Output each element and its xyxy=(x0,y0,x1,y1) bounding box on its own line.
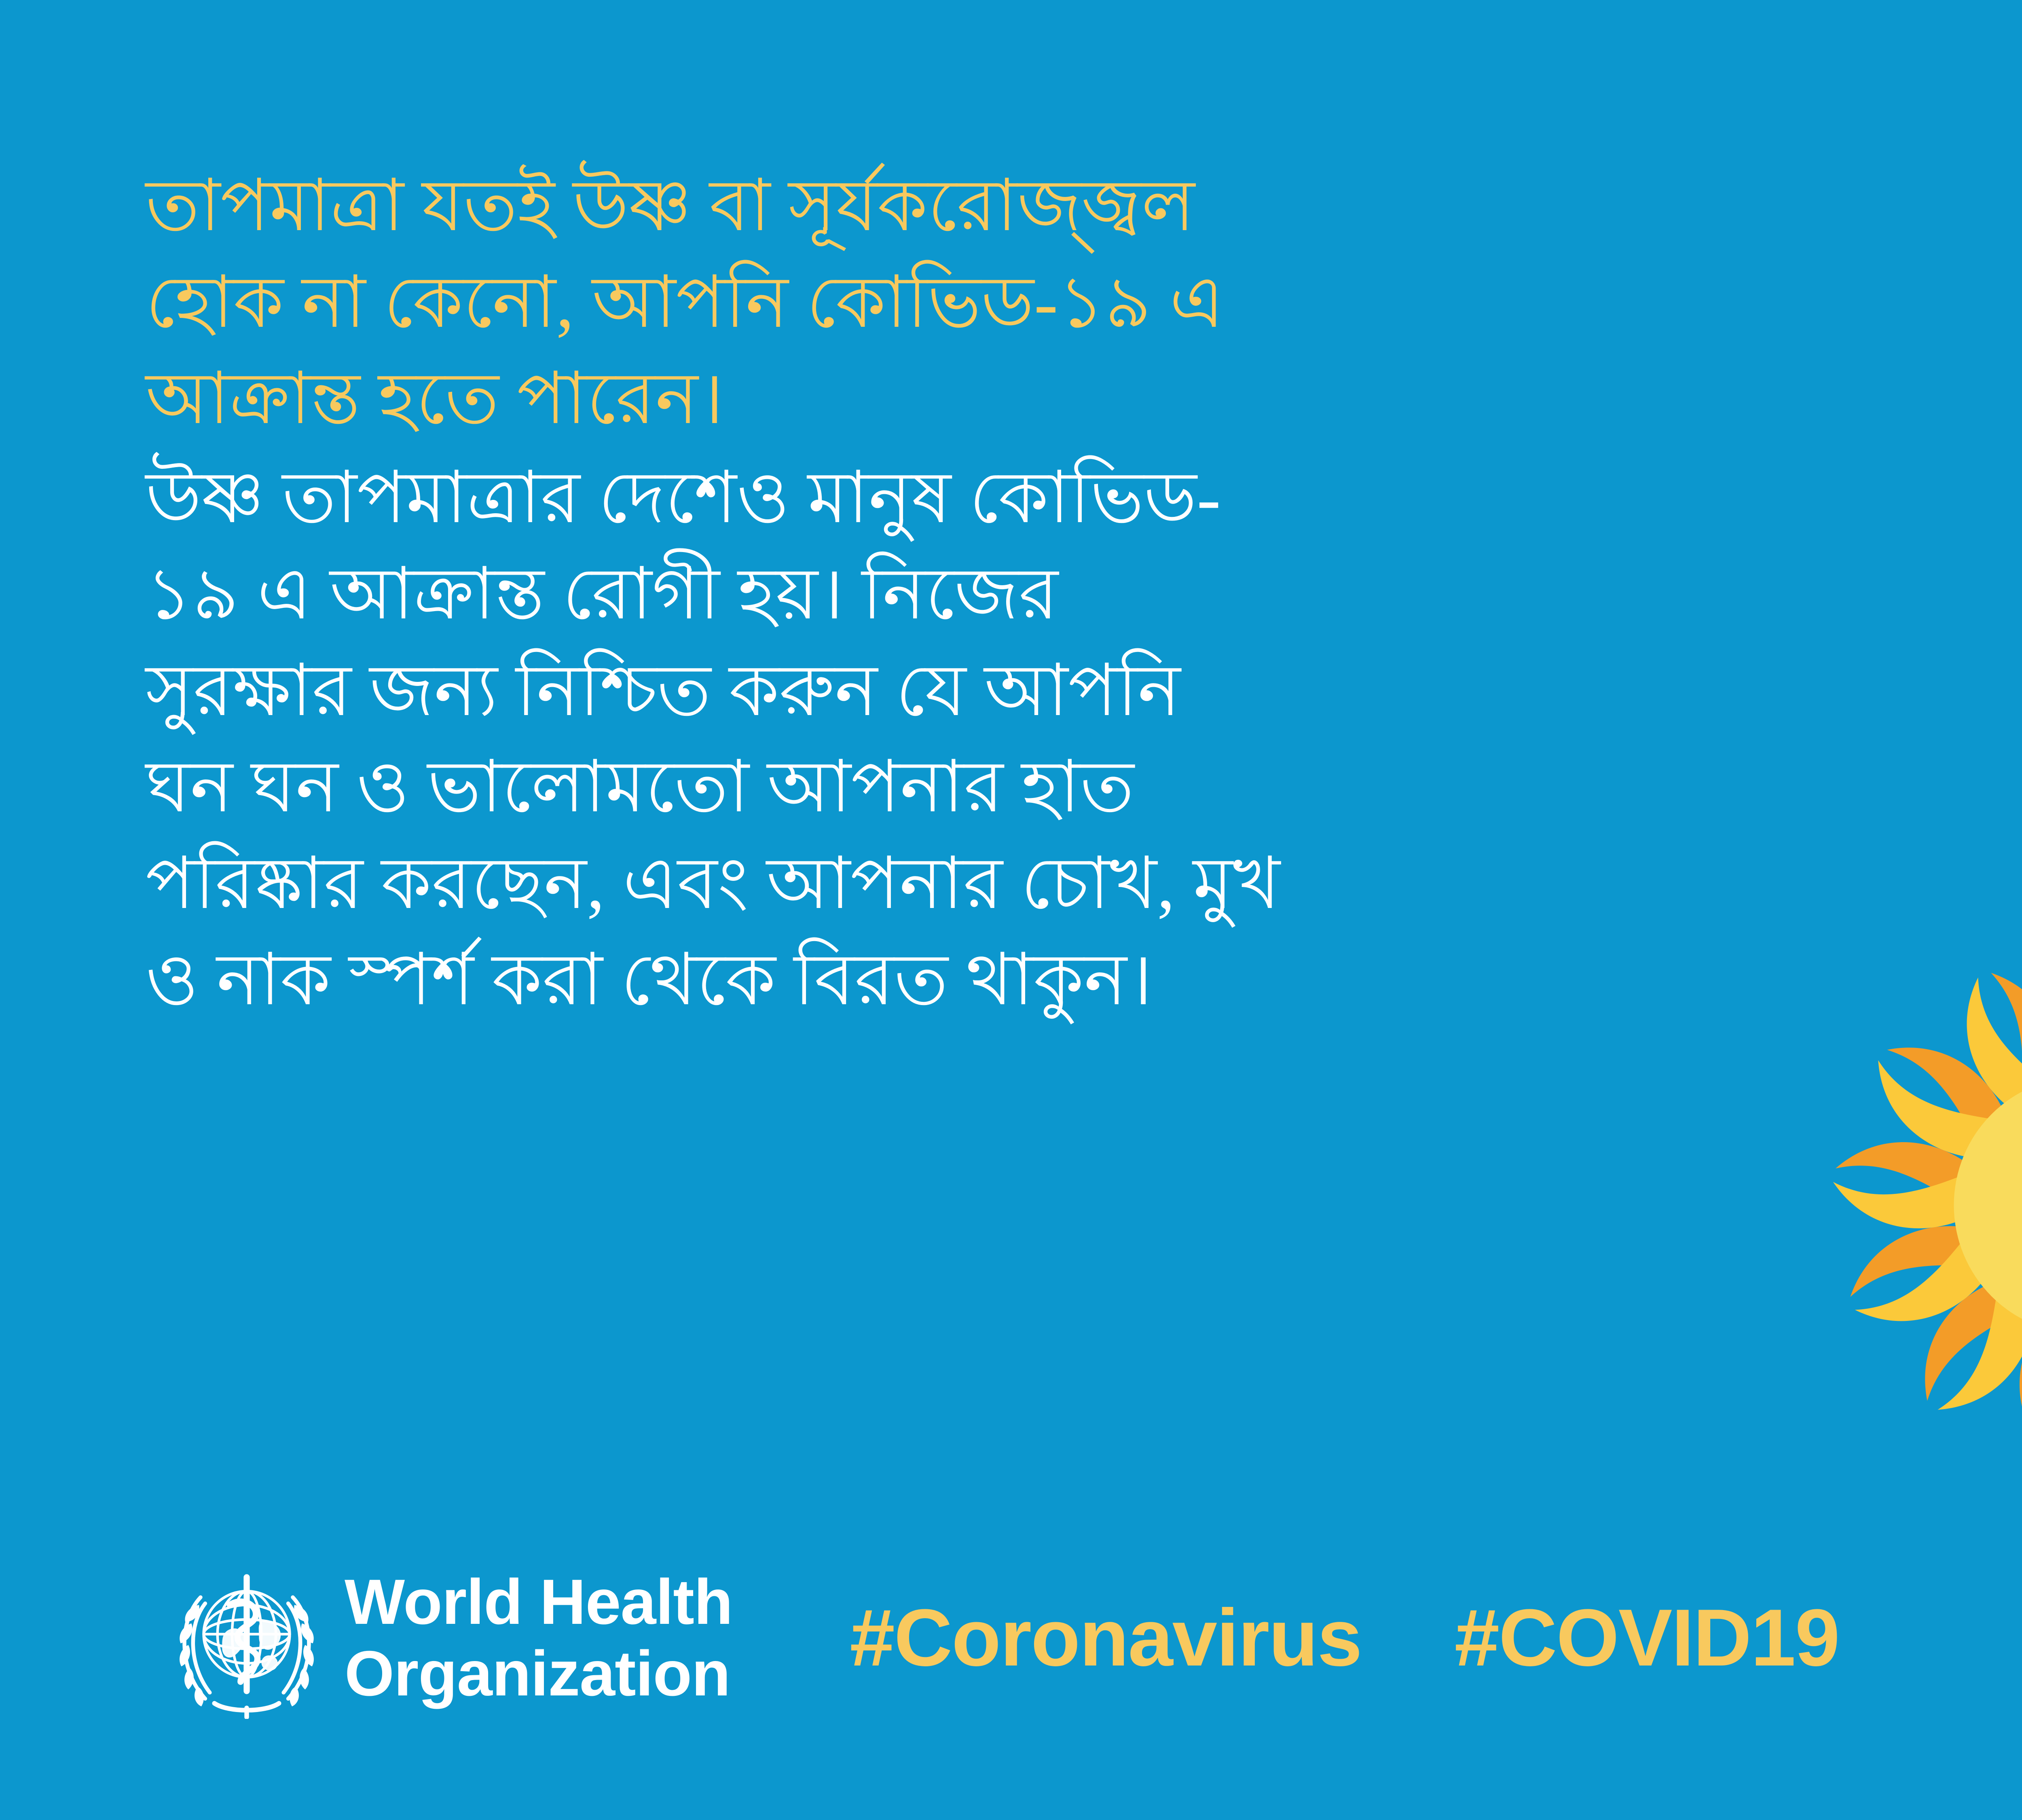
fact-body-line: তাপমাত্রার উপরে রাখলে xyxy=(1743,473,2022,569)
advice-line: ১৯ এ আক্রান্ত রোগী হয়। নিজের xyxy=(146,546,1674,643)
fact-body-block: নিজেকে রোদের তাপে বা ২৫C ডিগ্রীর তাপমাত্… xyxy=(1743,376,2022,763)
fact-body-line: করা যাবে না। xyxy=(1743,666,2022,763)
poster-canvas: তাপমাত্রা যতই উষ্ণ বা সূর্যকরোজ্জ্বল হোক… xyxy=(0,0,2022,1820)
advice-line: ঘন ঘন ও ভালোমতো আপনার হাত xyxy=(146,739,1674,836)
hashtag-covid19[interactable]: #COVID19 xyxy=(1455,1591,1839,1685)
sun-illustration xyxy=(1820,942,2022,1468)
hashtag-group: #Coronavirus #COVID19 xyxy=(850,1591,1839,1685)
advice-statement-block: উষ্ণ তাপমাত্রার দেশেও মানুষ কোভিড- ১৯ এ … xyxy=(146,450,1674,1029)
who-wordmark: World Health Organization xyxy=(345,1566,732,1710)
advice-line: পরিষ্কার করছেন, এবং আপনার চোখ, মুখ xyxy=(146,836,1674,932)
who-emblem-icon xyxy=(170,1557,324,1719)
advice-line: ও নাক স্পর্শ করা থেকে বিরত থাকুন। xyxy=(146,932,1674,1029)
fact-heading-line: সঠিক তথ্যঃ xyxy=(1743,279,2022,376)
footer-bar: World Health Organization #Coronavirus #… xyxy=(170,1557,1839,1719)
sun-icon xyxy=(1820,942,2022,1468)
who-logo: World Health Organization xyxy=(170,1557,732,1719)
hashtag-coronavirus[interactable]: #Coronavirus xyxy=(850,1591,1361,1685)
fact-body-line: নিজেকে রোদের তাপে বা ২৫C ডিগ্রীর xyxy=(1743,376,2022,472)
fact-heading-block: সঠিক তথ্যঃ xyxy=(1743,279,2022,376)
myth-statement-block: তাপমাত্রা যতই উষ্ণ বা সূর্যকরোজ্জ্বল হোক… xyxy=(146,158,1674,447)
right-text-column: সঠিক তথ্যঃ নিজেকে রোদের তাপে বা ২৫C ডিগ্… xyxy=(1743,279,2022,763)
left-text-column: তাপমাত্রা যতই উষ্ণ বা সূর্যকরোজ্জ্বল হোক… xyxy=(146,158,1674,1029)
who-wordmark-line-1: World Health xyxy=(345,1566,732,1638)
advice-line: উষ্ণ তাপমাত্রার দেশেও মানুষ কোভিড- xyxy=(146,450,1674,546)
advice-line: সুরক্ষার জন্য নিশ্চিত করুন যে আপনি xyxy=(146,643,1674,739)
who-wordmark-line-2: Organization xyxy=(345,1638,732,1710)
myth-line: হোক না কেনো, আপনি কোভিড-১৯ এ xyxy=(146,254,1674,351)
myth-line: তাপমাত্রা যতই উষ্ণ বা সূর্যকরোজ্জ্বল xyxy=(146,158,1674,254)
myth-line: আক্রান্ত হতে পারেন। xyxy=(146,351,1674,447)
fact-body-line: করোনাভাইরাসের আক্রমণ থেকে রক্ষা xyxy=(1743,569,2022,666)
